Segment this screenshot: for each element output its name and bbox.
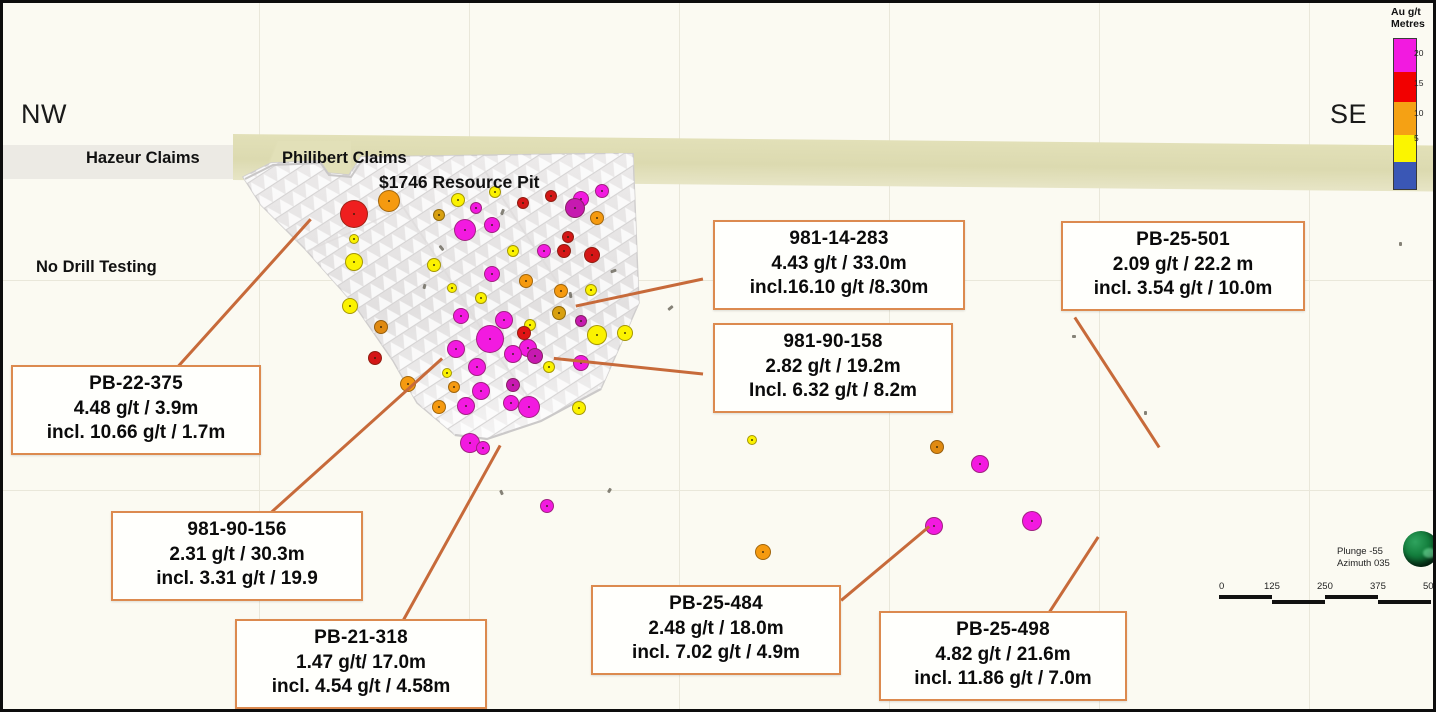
callout-included-interval: incl. 10.66 g/t / 1.7m — [23, 421, 249, 446]
drill-intercept-marker — [504, 345, 522, 363]
drill-intercept-marker — [971, 455, 989, 473]
azimuth-label: Azimuth 035 — [1337, 558, 1390, 570]
drill-intercept-marker — [476, 441, 490, 455]
drill-intercept-marker — [562, 231, 574, 243]
legend-swatch-magenta — [1394, 39, 1416, 72]
legend-swatch-red — [1394, 72, 1416, 102]
rock-speck — [569, 292, 573, 298]
legend-swatch-orange — [1394, 102, 1416, 135]
legend-swatch-yellow — [1394, 135, 1416, 162]
drill-hole-callout[interactable]: PB-21-3181.47 g/t/ 17.0mincl. 4.54 g/t /… — [235, 619, 487, 709]
callout-leader-line — [1048, 536, 1099, 613]
resource-pit-label: $1746 Resource Pit — [379, 172, 540, 193]
drill-intercept-marker — [495, 311, 513, 329]
drill-intercept-marker — [755, 544, 771, 560]
legend-tick: 15 — [1414, 78, 1423, 88]
rock-speck — [1144, 411, 1147, 415]
drill-intercept-marker — [557, 244, 571, 258]
drill-hole-callout[interactable]: 981-90-1562.31 g/t / 30.3mincl. 3.31 g/t… — [111, 511, 363, 601]
drill-intercept-marker — [453, 308, 469, 324]
scale-bar-rule — [1219, 595, 1431, 604]
callout-included-interval: incl. 3.31 g/t / 19.9 — [123, 567, 351, 592]
callout-leader-line — [1074, 317, 1161, 448]
legend-swatch-blue — [1394, 162, 1416, 189]
philibert-claims-label: Philibert Claims — [282, 149, 407, 168]
callout-hole-id: PB-22-375 — [23, 372, 249, 397]
drill-hole-callout[interactable]: PB-25-4842.48 g/t / 18.0mincl. 7.02 g/t … — [591, 585, 841, 675]
drill-intercept-marker — [590, 211, 604, 225]
legend-tick: 10 — [1414, 108, 1423, 118]
drill-intercept-marker — [930, 440, 944, 454]
callout-included-interval: incl.16.10 g/t /8.30m — [725, 276, 953, 301]
drill-intercept-marker — [451, 193, 465, 207]
drill-intercept-marker — [442, 368, 452, 378]
direction-label-nw: NW — [21, 99, 67, 130]
rock-speck — [610, 269, 617, 274]
rock-speck — [500, 209, 505, 216]
callout-hole-id: PB-21-318 — [247, 626, 475, 651]
scale-tick: 500 — [1423, 581, 1436, 592]
drill-intercept-marker — [507, 245, 519, 257]
no-drill-testing-label: No Drill Testing — [36, 258, 157, 277]
drill-intercept-marker — [374, 320, 388, 334]
drill-intercept-marker — [747, 435, 757, 445]
callout-hole-id: 981-14-283 — [725, 227, 953, 252]
drill-intercept-marker — [1022, 511, 1042, 531]
callout-interval: 1.47 g/t/ 17.0m — [247, 651, 475, 676]
rock-speck — [1072, 335, 1076, 338]
view-orientation-text: Plunge -55 Azimuth 035 — [1337, 546, 1390, 570]
drill-intercept-marker — [447, 283, 457, 293]
drill-intercept-marker — [468, 358, 486, 376]
grid-line — [3, 490, 1433, 491]
drill-intercept-marker — [517, 326, 531, 340]
callout-hole-id: PB-25-501 — [1073, 228, 1293, 253]
drill-intercept-marker — [349, 234, 359, 244]
drill-intercept-marker — [575, 315, 587, 327]
drill-hole-callout[interactable]: PB-25-5012.09 g/t / 22.2 mincl. 3.54 g/t… — [1061, 221, 1305, 311]
callout-interval: 4.43 g/t / 33.0m — [725, 252, 953, 277]
scale-tick: 250 — [1317, 581, 1333, 592]
cross-section-figure: NW SE Hazeur Claims Philibert Claims $17… — [0, 0, 1436, 712]
scale-tick-labels: 0125250375500 — [1219, 581, 1431, 594]
rock-speck — [438, 245, 444, 252]
legend-tick: 5 — [1414, 133, 1419, 143]
drill-hole-callout[interactable]: PB-25-4984.82 g/t / 21.6mincl. 11.86 g/t… — [879, 611, 1127, 701]
callout-included-interval: incl. 11.86 g/t / 7.0m — [891, 667, 1115, 692]
drill-intercept-marker — [503, 395, 519, 411]
drill-intercept-marker — [475, 292, 487, 304]
callout-included-interval: incl. 3.54 g/t / 10.0m — [1073, 277, 1293, 302]
callout-leader-line — [402, 445, 501, 621]
plunge-label: Plunge -55 — [1337, 546, 1390, 558]
callout-interval: 4.48 g/t / 3.9m — [23, 397, 249, 422]
drill-intercept-marker — [543, 361, 555, 373]
callout-hole-id: 981-90-158 — [725, 330, 941, 355]
drill-intercept-marker — [540, 499, 554, 513]
drill-intercept-marker — [345, 253, 363, 271]
callout-hole-id: 981-90-156 — [123, 518, 351, 543]
rock-speck — [422, 284, 426, 290]
drill-intercept-marker — [476, 325, 504, 353]
drill-hole-callout[interactable]: PB-22-3754.48 g/t / 3.9mincl. 10.66 g/t … — [11, 365, 261, 455]
hazeur-claims-label: Hazeur Claims — [86, 149, 200, 168]
callout-leader-line — [840, 525, 930, 601]
drill-intercept-marker — [427, 258, 441, 272]
drill-intercept-marker — [432, 400, 446, 414]
drill-intercept-marker — [587, 325, 607, 345]
drill-intercept-marker — [617, 325, 633, 341]
callout-interval: 2.09 g/t / 22.2 m — [1073, 253, 1293, 278]
direction-label-se: SE — [1330, 99, 1367, 130]
drill-intercept-marker — [484, 266, 500, 282]
drill-intercept-marker — [572, 401, 586, 415]
scale-bar: 0125250375500 — [1219, 581, 1431, 604]
callout-hole-id: PB-25-498 — [891, 618, 1115, 643]
drill-intercept-marker — [433, 209, 445, 221]
scale-tick: 125 — [1264, 581, 1280, 592]
grid-line — [259, 3, 260, 709]
drill-intercept-marker — [595, 184, 609, 198]
legend-tick-labels: 2015105 — [1414, 7, 1434, 157]
callout-leader-line — [177, 218, 311, 367]
callout-interval: 2.82 g/t / 19.2m — [725, 355, 941, 380]
callout-included-interval: incl. 7.02 g/t / 4.9m — [603, 641, 829, 666]
drill-intercept-marker — [545, 190, 557, 202]
drill-intercept-marker — [518, 396, 540, 418]
drill-intercept-marker — [454, 219, 476, 241]
drill-intercept-marker — [565, 198, 585, 218]
orientation-sphere-icon — [1403, 531, 1436, 567]
callout-interval: 2.48 g/t / 18.0m — [603, 617, 829, 642]
drill-intercept-marker — [537, 244, 551, 258]
callout-included-interval: incl. 4.54 g/t / 4.58m — [247, 675, 475, 700]
drill-intercept-marker — [342, 298, 358, 314]
drill-intercept-marker — [368, 351, 382, 365]
callout-included-interval: Incl. 6.32 g/t / 8.2m — [725, 379, 941, 404]
drill-intercept-marker — [585, 284, 597, 296]
drill-intercept-marker — [484, 217, 500, 233]
scale-tick: 375 — [1370, 581, 1386, 592]
callout-interval: 2.31 g/t / 30.3m — [123, 543, 351, 568]
legend: Au g/t Metres 2015105 — [1389, 7, 1433, 190]
drill-intercept-marker — [527, 348, 543, 364]
drill-intercept-marker — [447, 340, 465, 358]
drill-intercept-marker — [378, 190, 400, 212]
drill-intercept-marker — [470, 202, 482, 214]
rock-speck — [667, 305, 674, 311]
drill-intercept-marker — [519, 274, 533, 288]
drill-intercept-marker — [448, 381, 460, 393]
drill-intercept-marker — [340, 200, 368, 228]
drill-intercept-marker — [584, 247, 600, 263]
callout-hole-id: PB-25-484 — [603, 592, 829, 617]
scale-tick: 0 — [1219, 581, 1224, 592]
drill-hole-callout[interactable]: 981-90-1582.82 g/t / 19.2mIncl. 6.32 g/t… — [713, 323, 953, 413]
rock-speck — [1399, 242, 1402, 246]
drill-intercept-marker — [506, 378, 520, 392]
drill-intercept-marker — [517, 197, 529, 209]
grid-line — [469, 3, 470, 709]
drill-intercept-marker — [554, 284, 568, 298]
drill-intercept-marker — [472, 382, 490, 400]
legend-tick: 20 — [1414, 48, 1423, 58]
drill-intercept-marker — [552, 306, 566, 320]
drill-hole-callout[interactable]: 981-14-2834.43 g/t / 33.0mincl.16.10 g/t… — [713, 220, 965, 310]
drill-intercept-marker — [457, 397, 475, 415]
callout-interval: 4.82 g/t / 21.6m — [891, 643, 1115, 668]
